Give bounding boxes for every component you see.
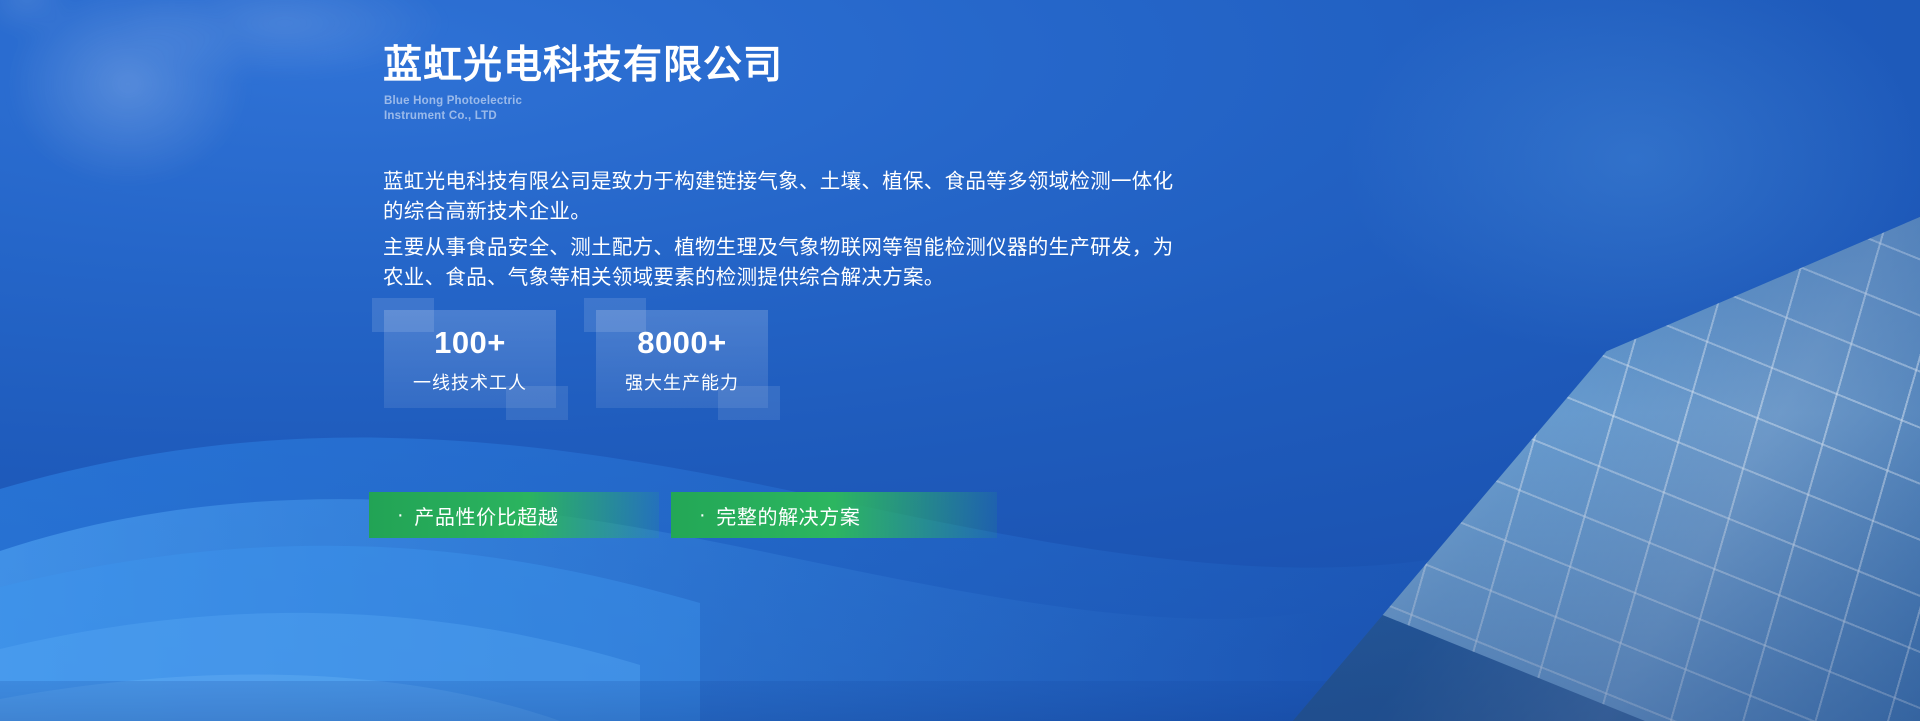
feature-tags: · 产品性价比超越 · 完整的解决方案 xyxy=(369,492,997,538)
intro-paragraph-1: 蓝虹光电科技有限公司是致力于构建链接气象、土壤、植保、食品等多领域检测一体化的综… xyxy=(383,167,1183,227)
stat-card-workers: 100+ 一线技术工人 xyxy=(384,310,556,408)
feature-tag-label: 完整的解决方案 xyxy=(716,501,860,530)
stat-number: 100+ xyxy=(434,327,506,358)
stats-row: 100+ 一线技术工人 8000+ 强大生产能力 xyxy=(384,310,768,408)
company-name-zh: 蓝虹光电科技有限公司 xyxy=(383,46,783,85)
intro-paragraph-2: 主要从事食品安全、测土配方、植物生理及气象物联网等智能检测仪器的生产研发，为农业… xyxy=(383,233,1183,293)
company-name-en-line1: Blue Hong Photoelectric xyxy=(384,94,522,109)
feature-tag-value[interactable]: · 产品性价比超越 xyxy=(369,492,659,538)
feature-tag-solution[interactable]: · 完整的解决方案 xyxy=(671,492,997,538)
stat-number: 8000+ xyxy=(637,327,727,358)
bullet-icon: · xyxy=(699,505,706,525)
hero-banner: 蓝虹光电科技有限公司 Blue Hong Photoelectric Instr… xyxy=(0,0,1920,721)
company-name-en-line2: Instrument Co., LTD xyxy=(384,109,522,124)
hero-content: 蓝虹光电科技有限公司 Blue Hong Photoelectric Instr… xyxy=(383,0,1583,721)
feature-tag-label: 产品性价比超越 xyxy=(414,501,558,530)
bullet-icon: · xyxy=(397,505,404,525)
stat-label: 强大生产能力 xyxy=(625,374,739,392)
stat-card-capacity: 8000+ 强大生产能力 xyxy=(596,310,768,408)
company-name-en: Blue Hong Photoelectric Instrument Co., … xyxy=(384,94,522,123)
stat-label: 一线技术工人 xyxy=(413,374,527,392)
